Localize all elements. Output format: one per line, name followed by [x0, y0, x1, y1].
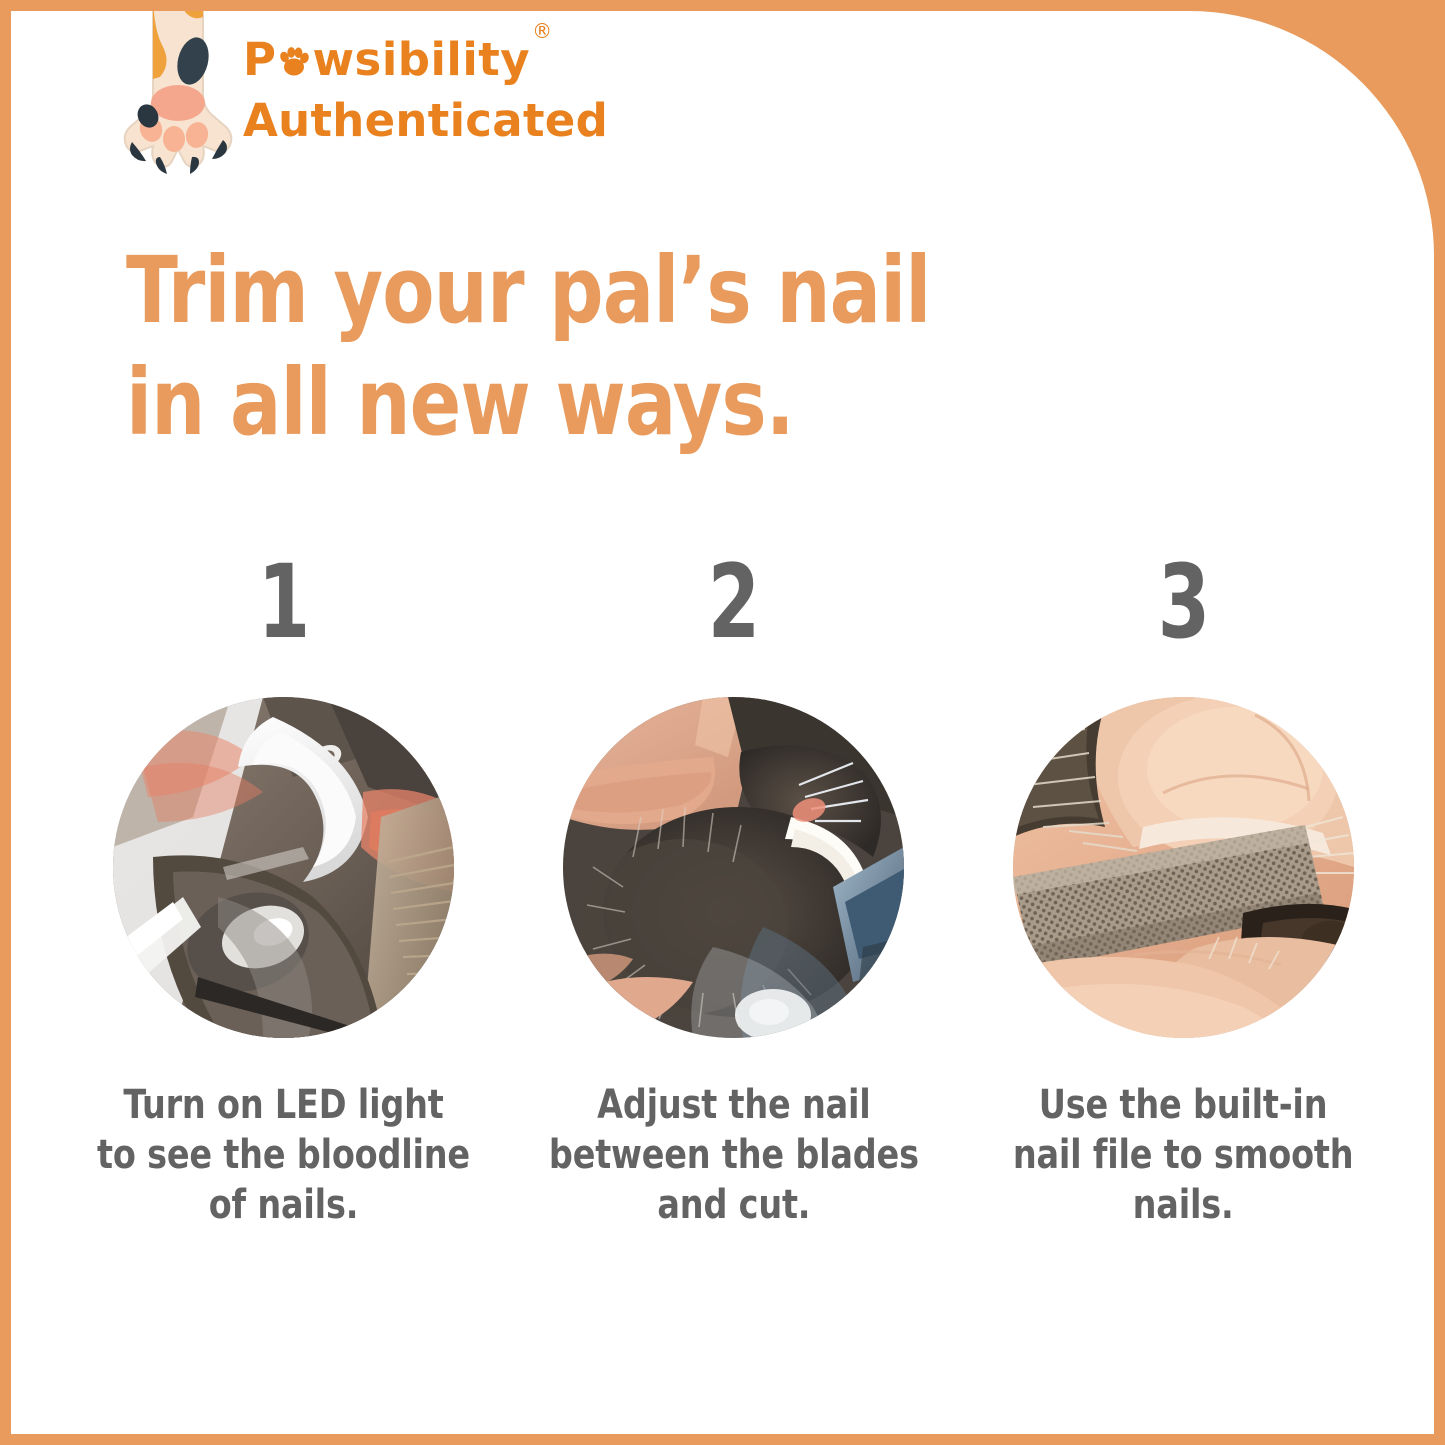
- poster-frame: P wsibility ® Authenticated: [0, 0, 1445, 1445]
- step-3-caption-line-1: Use the built-in: [1013, 1080, 1354, 1130]
- step-2-caption-line-2: between the blades: [549, 1130, 919, 1180]
- step-2-caption-line-3: and cut.: [549, 1180, 919, 1230]
- step-3-caption-line-2: nail file to smooth: [1013, 1130, 1354, 1180]
- step-2-caption: Adjust the nail between the blades and c…: [549, 1080, 919, 1230]
- paw-print-icon: [277, 44, 311, 78]
- steps-row: 1: [22, 551, 1434, 1230]
- brand-tagline: Authenticated: [243, 95, 663, 147]
- brand-name-first-letter: P: [243, 35, 276, 85]
- step-2-number: 2: [707, 551, 759, 655]
- step-1-caption-line-2: to see the bloodline: [97, 1130, 470, 1180]
- nail-between-blades-photo: [563, 697, 904, 1038]
- step-1-caption: Turn on LED light to see the bloodline o…: [97, 1080, 470, 1230]
- led-light-bloodline-photo: [113, 697, 454, 1038]
- brand-wordmark: P wsibility ® Authenticated: [243, 35, 663, 147]
- page-title: Trim your pal’s nail in all new ways.: [126, 235, 1046, 459]
- step-1-caption-line-3: of nails.: [97, 1180, 470, 1230]
- step-1-number: 1: [257, 551, 309, 655]
- step-3-caption-line-3: nails.: [1013, 1180, 1354, 1230]
- registered-trademark-icon: ®: [532, 19, 552, 43]
- step-1-caption-line-1: Turn on LED light: [97, 1080, 470, 1130]
- step-3-number: 3: [1157, 551, 1209, 655]
- poster-content: P wsibility ® Authenticated: [11, 11, 1434, 1434]
- brand-name-rest: wsibility: [312, 35, 530, 85]
- step-1: 1: [111, 551, 456, 1230]
- nail-file-smoothing-photo: [1013, 697, 1354, 1038]
- step-2-caption-line-1: Adjust the nail: [549, 1080, 919, 1130]
- step-2: 2: [561, 551, 906, 1230]
- headline-line-2: in all new ways.: [126, 347, 1046, 459]
- cat-paw-illustration: [120, 11, 238, 174]
- step-3-caption: Use the built-in nail file to smooth nai…: [1013, 1080, 1354, 1230]
- brand-logo: P wsibility ® Authenticated: [120, 11, 680, 191]
- headline-line-1: Trim your pal’s nail: [126, 235, 1046, 347]
- step-3: 3: [1011, 551, 1356, 1230]
